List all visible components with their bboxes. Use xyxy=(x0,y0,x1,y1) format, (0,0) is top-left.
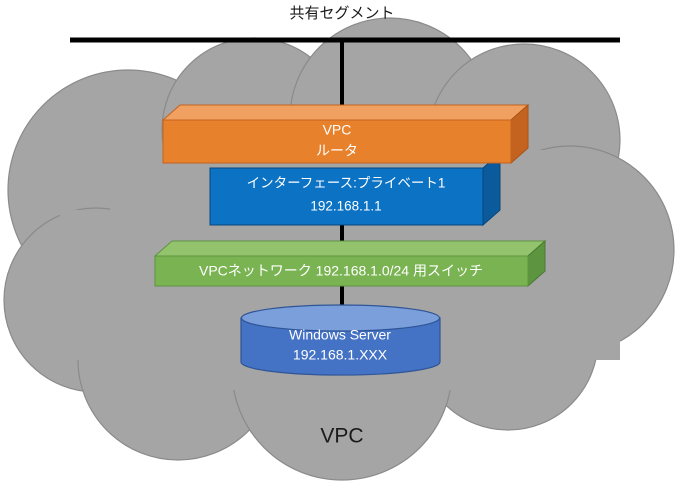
interface-address: 192.168.1.1 xyxy=(310,199,381,214)
server-address: 192.168.1.XXX xyxy=(293,347,388,363)
server-node[interactable]: Windows Server 192.168.1.XXX xyxy=(241,305,440,375)
cloud-label: VPC xyxy=(320,425,363,448)
router-name: VPC xyxy=(323,122,352,138)
switch-bar-top xyxy=(155,241,545,256)
switch-label: VPCネットワーク 192.168.1.0/24 用スイッチ xyxy=(199,263,483,279)
diagram-title: 共有セグメント xyxy=(289,5,394,22)
server-name: Windows Server xyxy=(289,327,391,343)
diagram-canvas: インターフェース:プライベート1 192.168.1.1 VPC ルータ VPC… xyxy=(0,0,682,488)
interface-name: インターフェース:プライベート1 xyxy=(247,176,446,191)
network-diagram: インターフェース:プライベート1 192.168.1.1 VPC ルータ VPC… xyxy=(0,0,682,488)
router-role: ルータ xyxy=(316,143,358,159)
switch-node[interactable]: VPCネットワーク 192.168.1.0/24 用スイッチ xyxy=(155,241,545,286)
router-node[interactable]: VPC ルータ xyxy=(163,105,528,163)
router-box-top xyxy=(163,105,528,120)
